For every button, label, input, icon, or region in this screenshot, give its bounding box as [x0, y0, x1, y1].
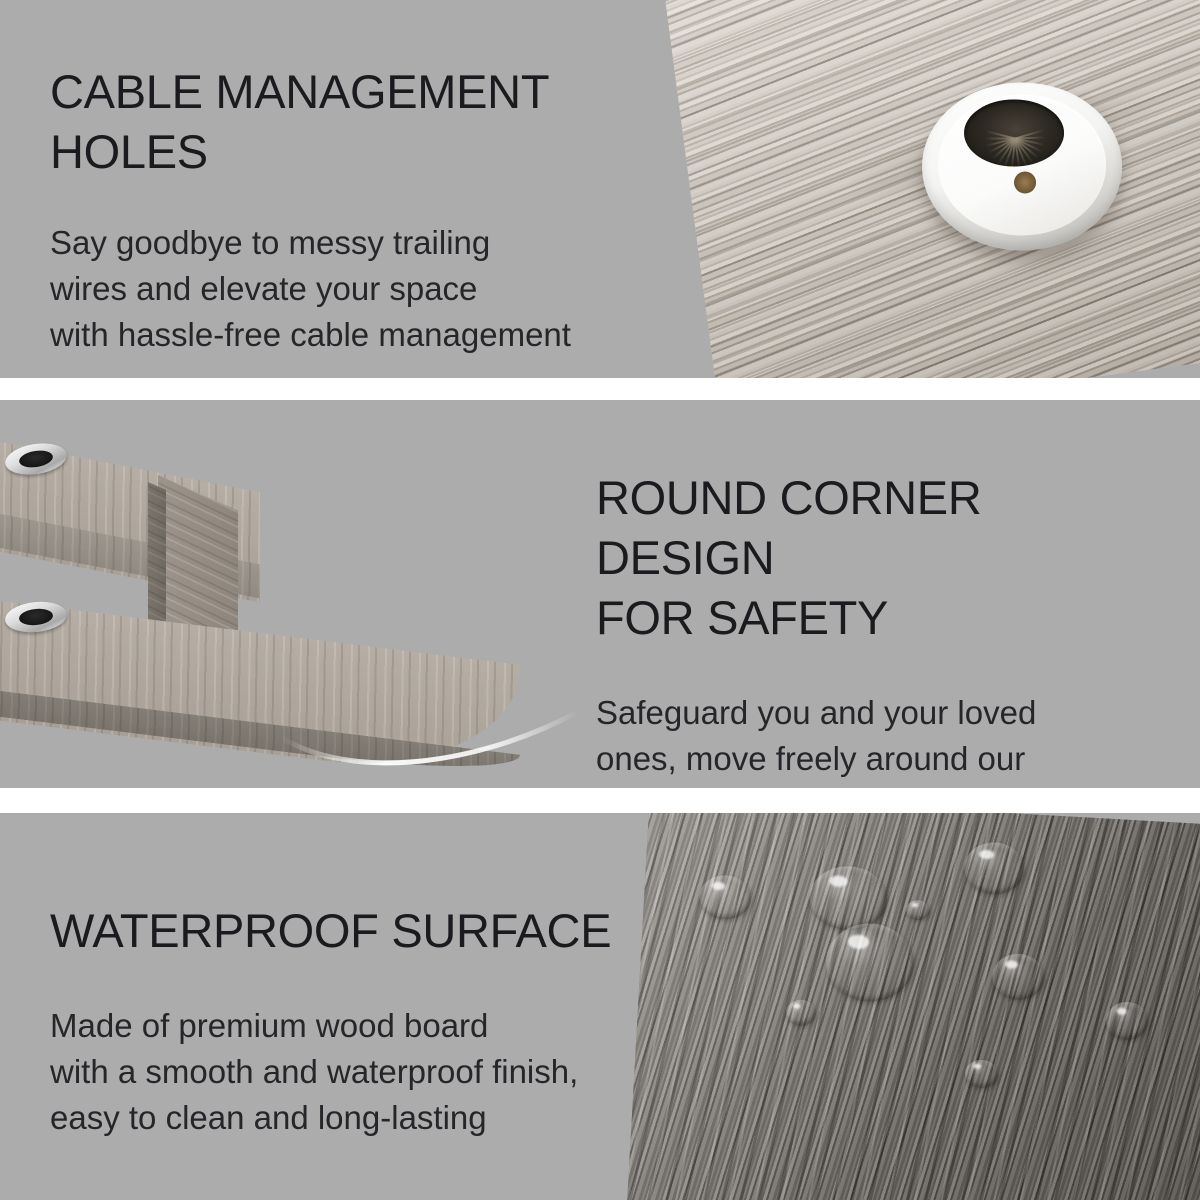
cable-management-title: CABLE MANAGEMENT HOLES — [50, 62, 670, 182]
waterproof-surface-text-block: WATERPROOF SURFACE Made of premium wood … — [50, 901, 650, 1141]
round-corner-description: Safeguard you and your loved ones, move … — [596, 690, 1156, 788]
rounded-corner-shelf-photo — [0, 400, 600, 788]
waterproof-surface-description: Made of premium wood board with a smooth… — [50, 1003, 650, 1141]
grommet-center-hub — [1014, 172, 1036, 194]
waterproof-surface-title: WATERPROOF SURFACE — [50, 901, 650, 961]
cable-management-description: Say goodbye to messy trailing wires and … — [50, 220, 670, 358]
grommet-brush-opening — [964, 99, 1064, 166]
feature-panel-round-corner: ROUND CORNER DESIGN FOR SAFETY Safeguard… — [0, 400, 1200, 788]
cable-management-text-block: CABLE MANAGEMENT HOLES Say goodbye to me… — [50, 62, 670, 358]
cable-grommet-icon — [922, 83, 1122, 251]
round-corner-title: ROUND CORNER DESIGN FOR SAFETY — [596, 468, 1156, 648]
cable-grommet-photo — [660, 0, 1200, 378]
water-droplets-photo — [626, 813, 1200, 1200]
round-corner-text-block: ROUND CORNER DESIGN FOR SAFETY Safeguard… — [596, 468, 1156, 788]
feature-panel-waterproof-surface: WATERPROOF SURFACE Made of premium wood … — [0, 813, 1200, 1200]
feature-panel-cable-management: CABLE MANAGEMENT HOLES Say goodbye to me… — [0, 0, 1200, 378]
